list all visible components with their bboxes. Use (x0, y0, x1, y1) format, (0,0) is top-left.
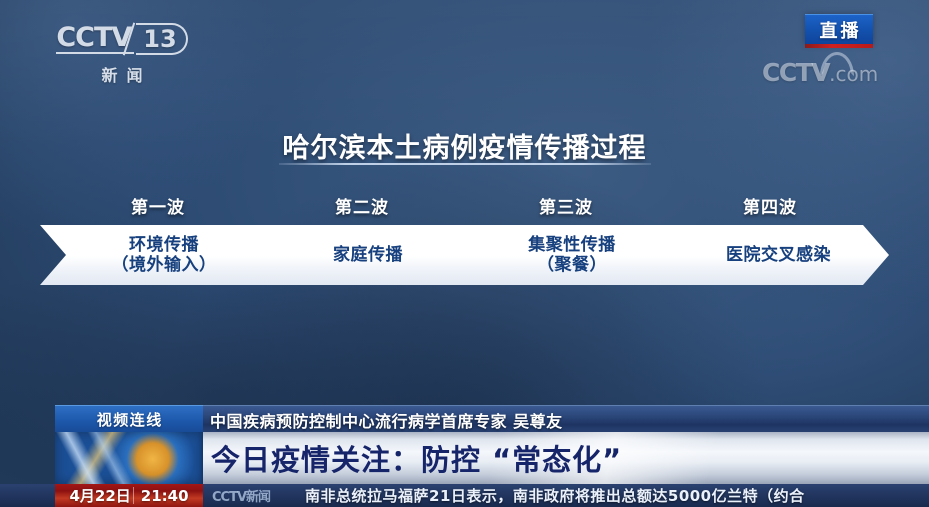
flow-step-1-text: 环境传播 （境外输入） (96, 235, 217, 275)
flow-step-1: 环境传播 （境外输入） (40, 225, 272, 285)
flow-step-1-line2: （境外输入） (112, 255, 217, 275)
flow-step-3-line1: 集聚性传播 (528, 235, 616, 255)
live-badge-underline (805, 44, 873, 48)
transmission-flow-diagram: 第一波 第二波 第三波 第四波 环境传播 （境外输入） 家庭传播 集聚性传播 （… (40, 193, 889, 298)
cctv-com-name: CCTV (762, 58, 829, 87)
ticker-brand-mark: CCTV新闻 (212, 486, 270, 505)
live-badge: 直播 (805, 14, 873, 45)
source-tag-label: 视频连线 (95, 409, 163, 430)
guest-credit-bar: 中国疾病预防控制中心流行病学首席专家 吴尊友 (203, 405, 929, 433)
channel-logo: CCTV 13 新闻 (52, 23, 192, 86)
graphic-title-underline (279, 163, 651, 165)
graphic-title: 哈尔滨本土病例疫情传播过程 (0, 126, 929, 165)
flow-step-4-text: 医院交叉感染 (710, 245, 831, 265)
flow-step-2-text: 家庭传播 (317, 245, 403, 265)
flow-step-4: 医院交叉感染 (652, 225, 889, 285)
cctv-wordmark: CCTV (56, 24, 134, 54)
ticker-headline-text: 南非总统拉马福萨21日表示，南非政府将推出总额达5000亿兰特（约合 (305, 484, 805, 507)
ticker-datetime: 4月22日 21:40 (55, 484, 203, 507)
wave-label-1: 第一波 (98, 193, 218, 218)
flow-step-4-line1: 医院交叉感染 (726, 245, 831, 265)
cctv-com-domain: .com (829, 62, 878, 86)
channel-logo-row: CCTV 13 (52, 23, 192, 55)
channel-number-badge: 13 (136, 23, 187, 55)
wave-label-4: 第四波 (710, 193, 830, 218)
flow-step-1-line1: 环境传播 (129, 235, 199, 255)
broadcast-screen: CCTV 13 新闻 直播 CCTV.com 哈尔滨本土病例疫情传播过程 第一波… (0, 0, 929, 507)
ticker-date: 4月22日 (69, 485, 130, 506)
flow-step-2: 家庭传播 (244, 225, 476, 285)
ticker-time: 21:40 (141, 487, 189, 505)
cctv-com-watermark: CCTV.com (762, 58, 878, 87)
wave-label-3: 第三波 (506, 193, 626, 218)
guest-credit-text: 中国疾病预防控制中心流行病学首席专家 吴尊友 (203, 408, 563, 432)
flow-step-3-text: 集聚性传播 （聚餐） (512, 235, 616, 275)
source-tag: 视频连线 (55, 405, 203, 433)
headline-text: 今日疫情关注：防控 “常态化” (203, 437, 622, 479)
ticker-datetime-separator (133, 487, 134, 504)
wave-label-2: 第二波 (302, 193, 422, 218)
flow-step-2-line1: 家庭传播 (333, 245, 403, 265)
globe-graphic (55, 432, 203, 484)
live-badge-label: 直播 (817, 17, 862, 43)
headline-bar: 今日疫情关注：防控 “常态化” (203, 432, 929, 484)
flow-step-3-line2: （聚餐） (528, 255, 616, 275)
flow-step-3: 集聚性传播 （聚餐） (448, 225, 680, 285)
globe-streak-overlay (55, 432, 203, 484)
channel-subtitle: 新闻 (52, 62, 192, 86)
